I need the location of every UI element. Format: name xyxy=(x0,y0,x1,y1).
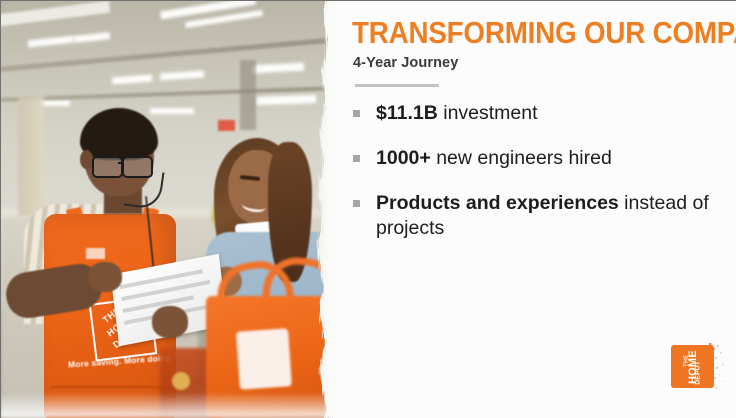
bullet-square-icon xyxy=(353,200,360,207)
title-divider xyxy=(355,84,439,87)
bullet-list: $11.1B investment 1000+ new engineers hi… xyxy=(352,101,736,261)
list-item-lead: Products and experiences xyxy=(376,192,619,214)
bullet-square-icon xyxy=(353,110,360,117)
list-item-rest: investment xyxy=(438,102,538,124)
photo-bottom-fade xyxy=(0,392,336,418)
logo-line-depot: DEPOT xyxy=(694,356,703,390)
ceiling-light xyxy=(40,100,70,106)
associate-hand-upper xyxy=(88,262,122,292)
ceiling-light xyxy=(150,108,194,114)
wall-column xyxy=(18,96,44,216)
bullet-square-icon xyxy=(353,155,360,162)
list-item: 1000+ new engineers hired xyxy=(352,146,736,171)
page-subtitle: 4-Year Journey xyxy=(353,54,458,72)
page-title: TRANSFORMING OUR COMPANY xyxy=(352,17,736,48)
logo-wordmark: THE HOME DEPOT xyxy=(671,345,714,388)
list-item-lead: $11.1B xyxy=(376,102,438,124)
apron-name-badge xyxy=(86,248,105,259)
photo-scene: THE HOME DEPOT More saving. More doing. xyxy=(0,0,336,418)
exit-sign xyxy=(218,120,235,131)
associate-hand-lower xyxy=(152,306,188,338)
list-item: Products and experiences instead of proj… xyxy=(352,191,736,241)
hero-photo: THE HOME DEPOT More saving. More doing. xyxy=(0,0,336,418)
slide: THE HOME DEPOT More saving. More doing. xyxy=(0,0,736,418)
bag-contents xyxy=(236,328,292,389)
list-item-rest: new engineers hired xyxy=(431,147,612,169)
ceiling-column xyxy=(240,60,256,130)
eyeglasses-bridge xyxy=(118,162,124,164)
eyeglasses-left-lens xyxy=(92,156,123,178)
list-item-lead: 1000+ xyxy=(376,147,431,169)
product-box-seal xyxy=(172,372,190,390)
logo-lines: THE HOME DEPOT xyxy=(672,346,714,388)
list-item: $11.1B investment xyxy=(352,101,736,126)
the-home-depot-logo: THE HOME DEPOT xyxy=(664,338,728,398)
